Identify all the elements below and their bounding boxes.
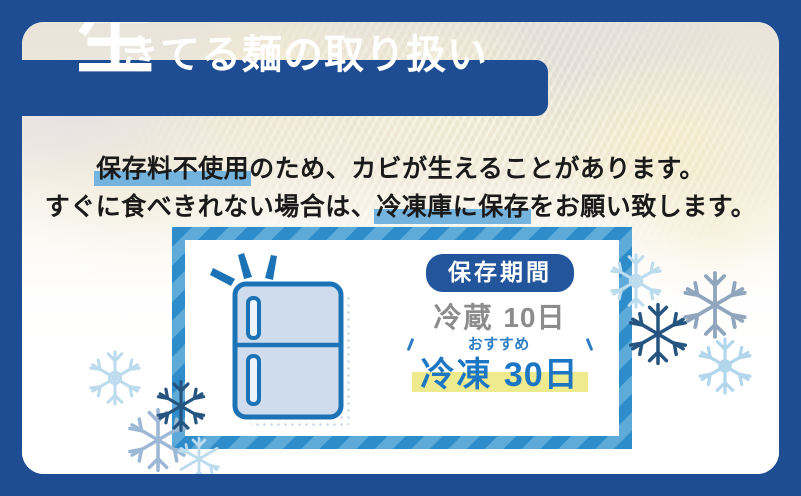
body-copy: 保存料不使用のため、カビが生えることがあります。 すぐに食べきれない場合は、冷凍… [22, 150, 779, 226]
body-line-2-after: をお願い致します。 [529, 193, 756, 221]
body-line-2: すぐに食べきれない場合は、冷凍庫に保存をお願い致します。 [22, 188, 779, 226]
body-line-1-rest: のため、カビが生えることがあります。 [249, 155, 705, 183]
poster-inner-card: 生 生きてる麺の取り扱い 保存料不使用のため、カビが生えることがあります。 すぐ… [22, 22, 779, 474]
storage-info-card: 保存期間 冷蔵 10日 おすすめ 冷凍 30日 [172, 227, 632, 449]
body-line-1-highlight: 保存料不使用 [96, 150, 249, 188]
refrigerated-unit: 日 [536, 302, 566, 333]
recommended-badge-row: おすすめ [381, 337, 619, 356]
page-title: 生きてる麺の取り扱い [78, 35, 488, 75]
refrigerated-row: 冷蔵 10日 [381, 303, 619, 334]
body-line-1: 保存料不使用のため、カビが生えることがあります。 [22, 150, 779, 188]
frozen-unit: 日 [544, 356, 580, 394]
frozen-row: 冷凍 30日 [416, 358, 583, 394]
poster-root: 生 生きてる麺の取り扱い 保存料不使用のため、カビが生えることがあります。 すぐ… [0, 0, 801, 496]
frozen-value: 30 [504, 356, 544, 394]
storage-period-badge: 保存期間 [426, 254, 574, 292]
title-rest-text: きてる麺の取り扱い [119, 33, 488, 77]
body-line-2-highlight: 冷凍庫に保存 [376, 188, 529, 226]
body-line-2-before: すぐに食べきれない場合は、 [45, 193, 377, 221]
refrigerator-icon [205, 246, 380, 431]
recommended-label: おすすめ [468, 337, 530, 352]
storage-info-card-inner: 保存期間 冷蔵 10日 おすすめ 冷凍 30日 [185, 240, 619, 436]
refrigerated-value: 10 [503, 302, 536, 333]
refrigerated-label: 冷蔵 [434, 302, 494, 333]
frozen-label: 冷凍 [420, 356, 492, 394]
recommended-tick-right-icon [586, 338, 594, 351]
recommended-tick-left-icon [407, 338, 415, 351]
storage-period-column: 保存期間 冷蔵 10日 おすすめ 冷凍 30日 [381, 254, 619, 393]
